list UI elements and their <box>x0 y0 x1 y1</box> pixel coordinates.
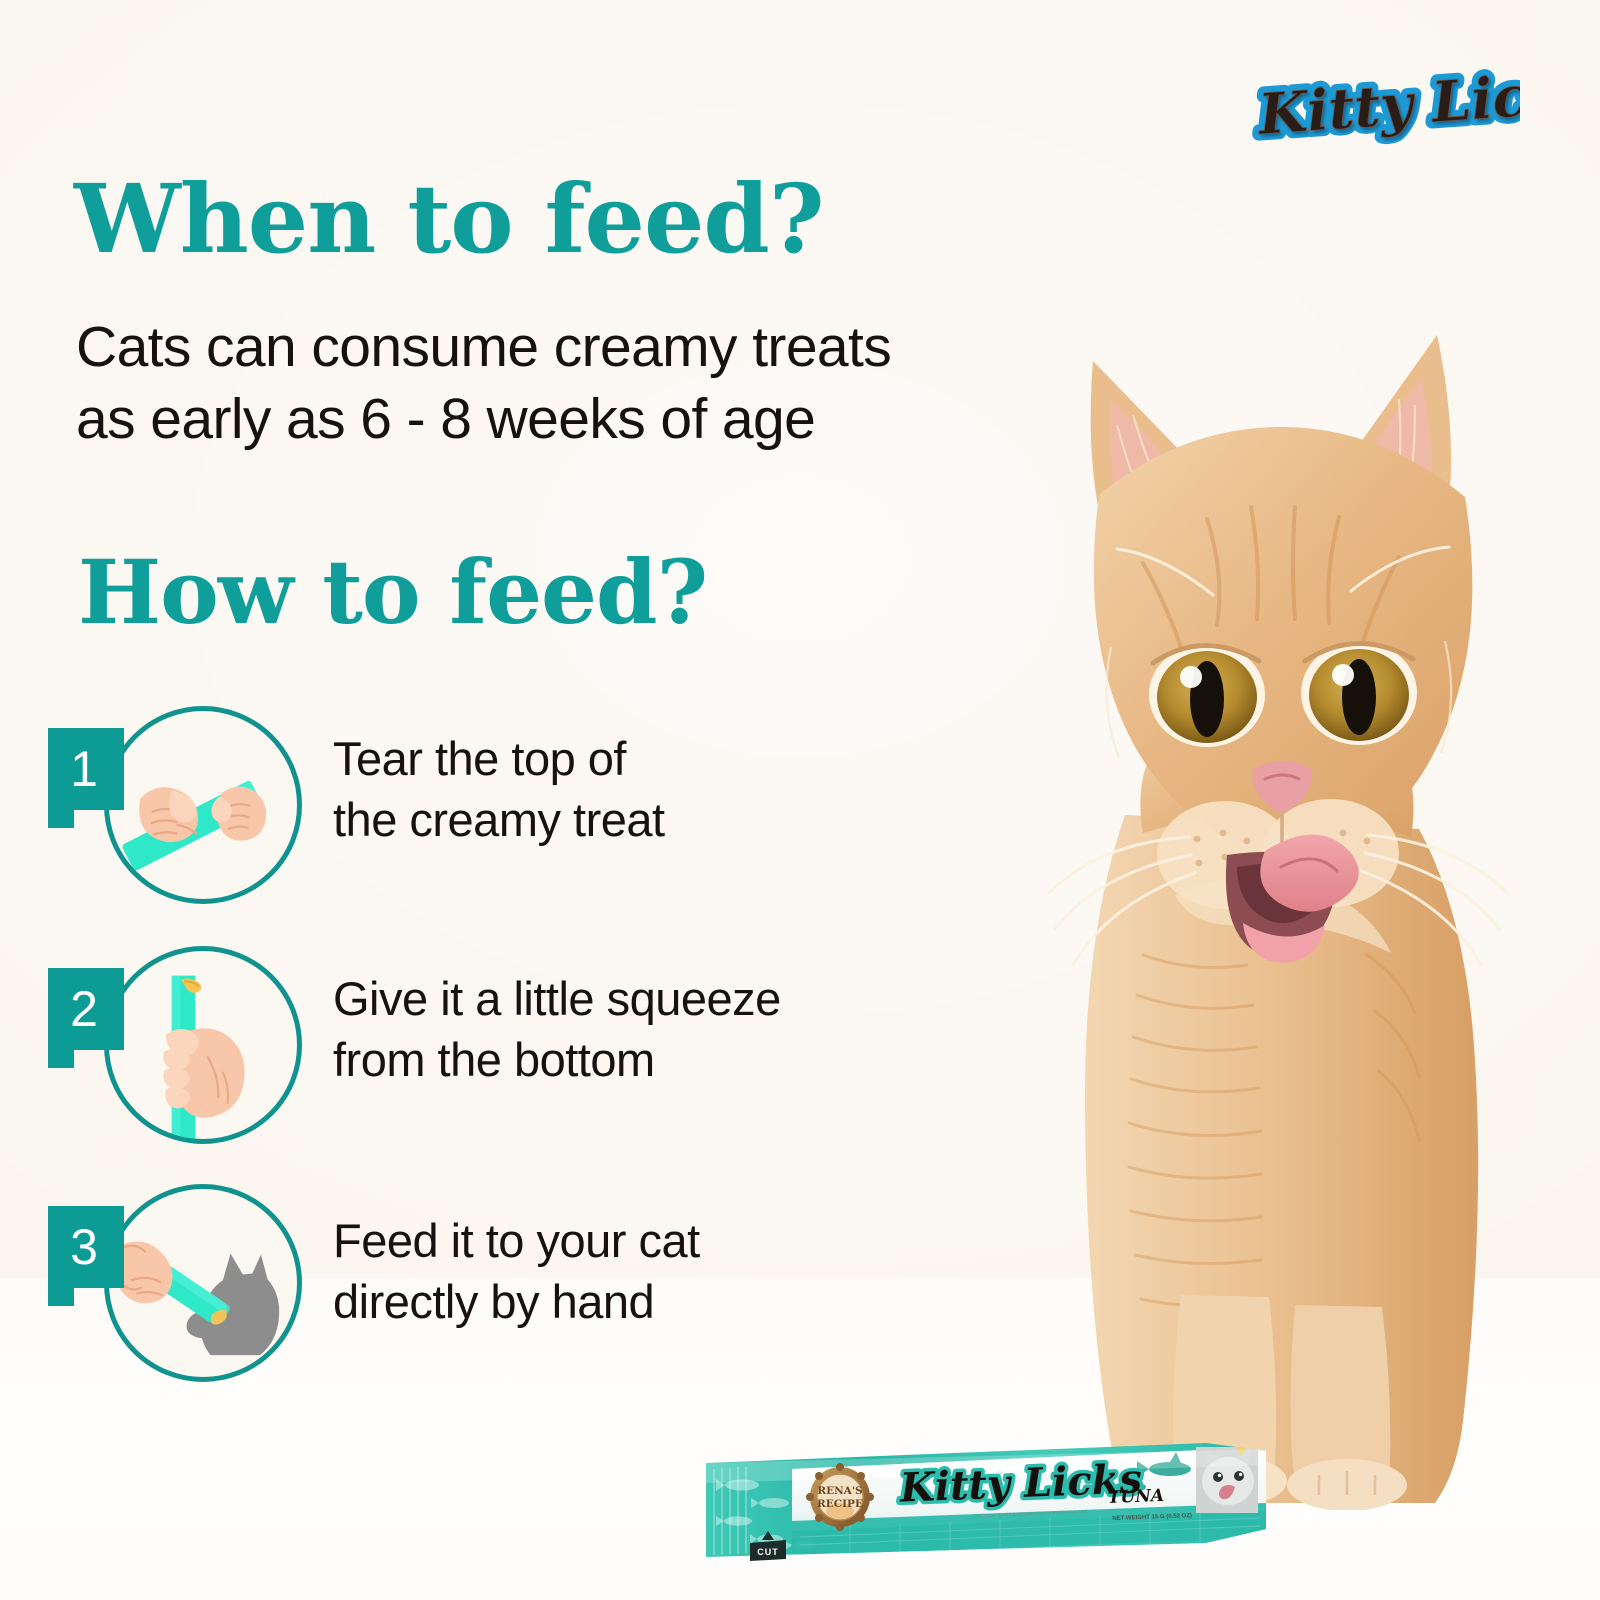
step-number-badge-3: 3 <box>48 1206 124 1288</box>
step-label-2: Give it a little squeeze from the bottom <box>333 968 943 1090</box>
step-label-1: Tear the top of the creamy treat <box>333 728 943 850</box>
kitten-photo <box>975 295 1600 1510</box>
renas-recipe-badge: RENA'S RECIPE <box>806 1463 874 1531</box>
step-label-3: Feed it to your cat directly by hand <box>333 1210 943 1332</box>
badge-line-2: RECIPE <box>817 1498 863 1510</box>
pack-flavor: TUNA <box>1107 1486 1164 1508</box>
brand-logo: Kitty Licks Kitty Licks Kitty Licks <box>1252 66 1520 164</box>
pack-wordmark: Kitty Licks <box>898 1455 1143 1511</box>
step-number-badge-1: 1 <box>48 728 124 810</box>
hand-feeding-cat-icon <box>104 1184 302 1382</box>
hand-squeezing-tube-icon <box>104 946 302 1144</box>
two-hands-tearing-sachet-icon <box>104 706 302 904</box>
svg-text:CUT: CUT <box>757 1547 779 1557</box>
step-item-1: 1 <box>48 700 948 900</box>
heading-how-to-feed: How to feed? <box>78 548 707 636</box>
badge-line-1: RENA'S <box>817 1485 862 1497</box>
product-sachet: RENA'S RECIPE Kitty Licks Kitty Licks TU… <box>700 1425 1270 1590</box>
step-item-3: 3 <box>48 1178 948 1378</box>
step-number-badge-2: 2 <box>48 968 124 1050</box>
heading-when-to-feed: When to feed? <box>74 172 824 267</box>
infographic-page: Kitty Licks Kitty Licks Kitty Licks When… <box>0 0 1600 1600</box>
when-to-feed-body: Cats can consume creamy treats as early … <box>76 312 1036 456</box>
step-item-2: 2 Give it a li <box>48 940 948 1140</box>
svg-text:Kitty Licks: Kitty Licks <box>1254 66 1520 148</box>
